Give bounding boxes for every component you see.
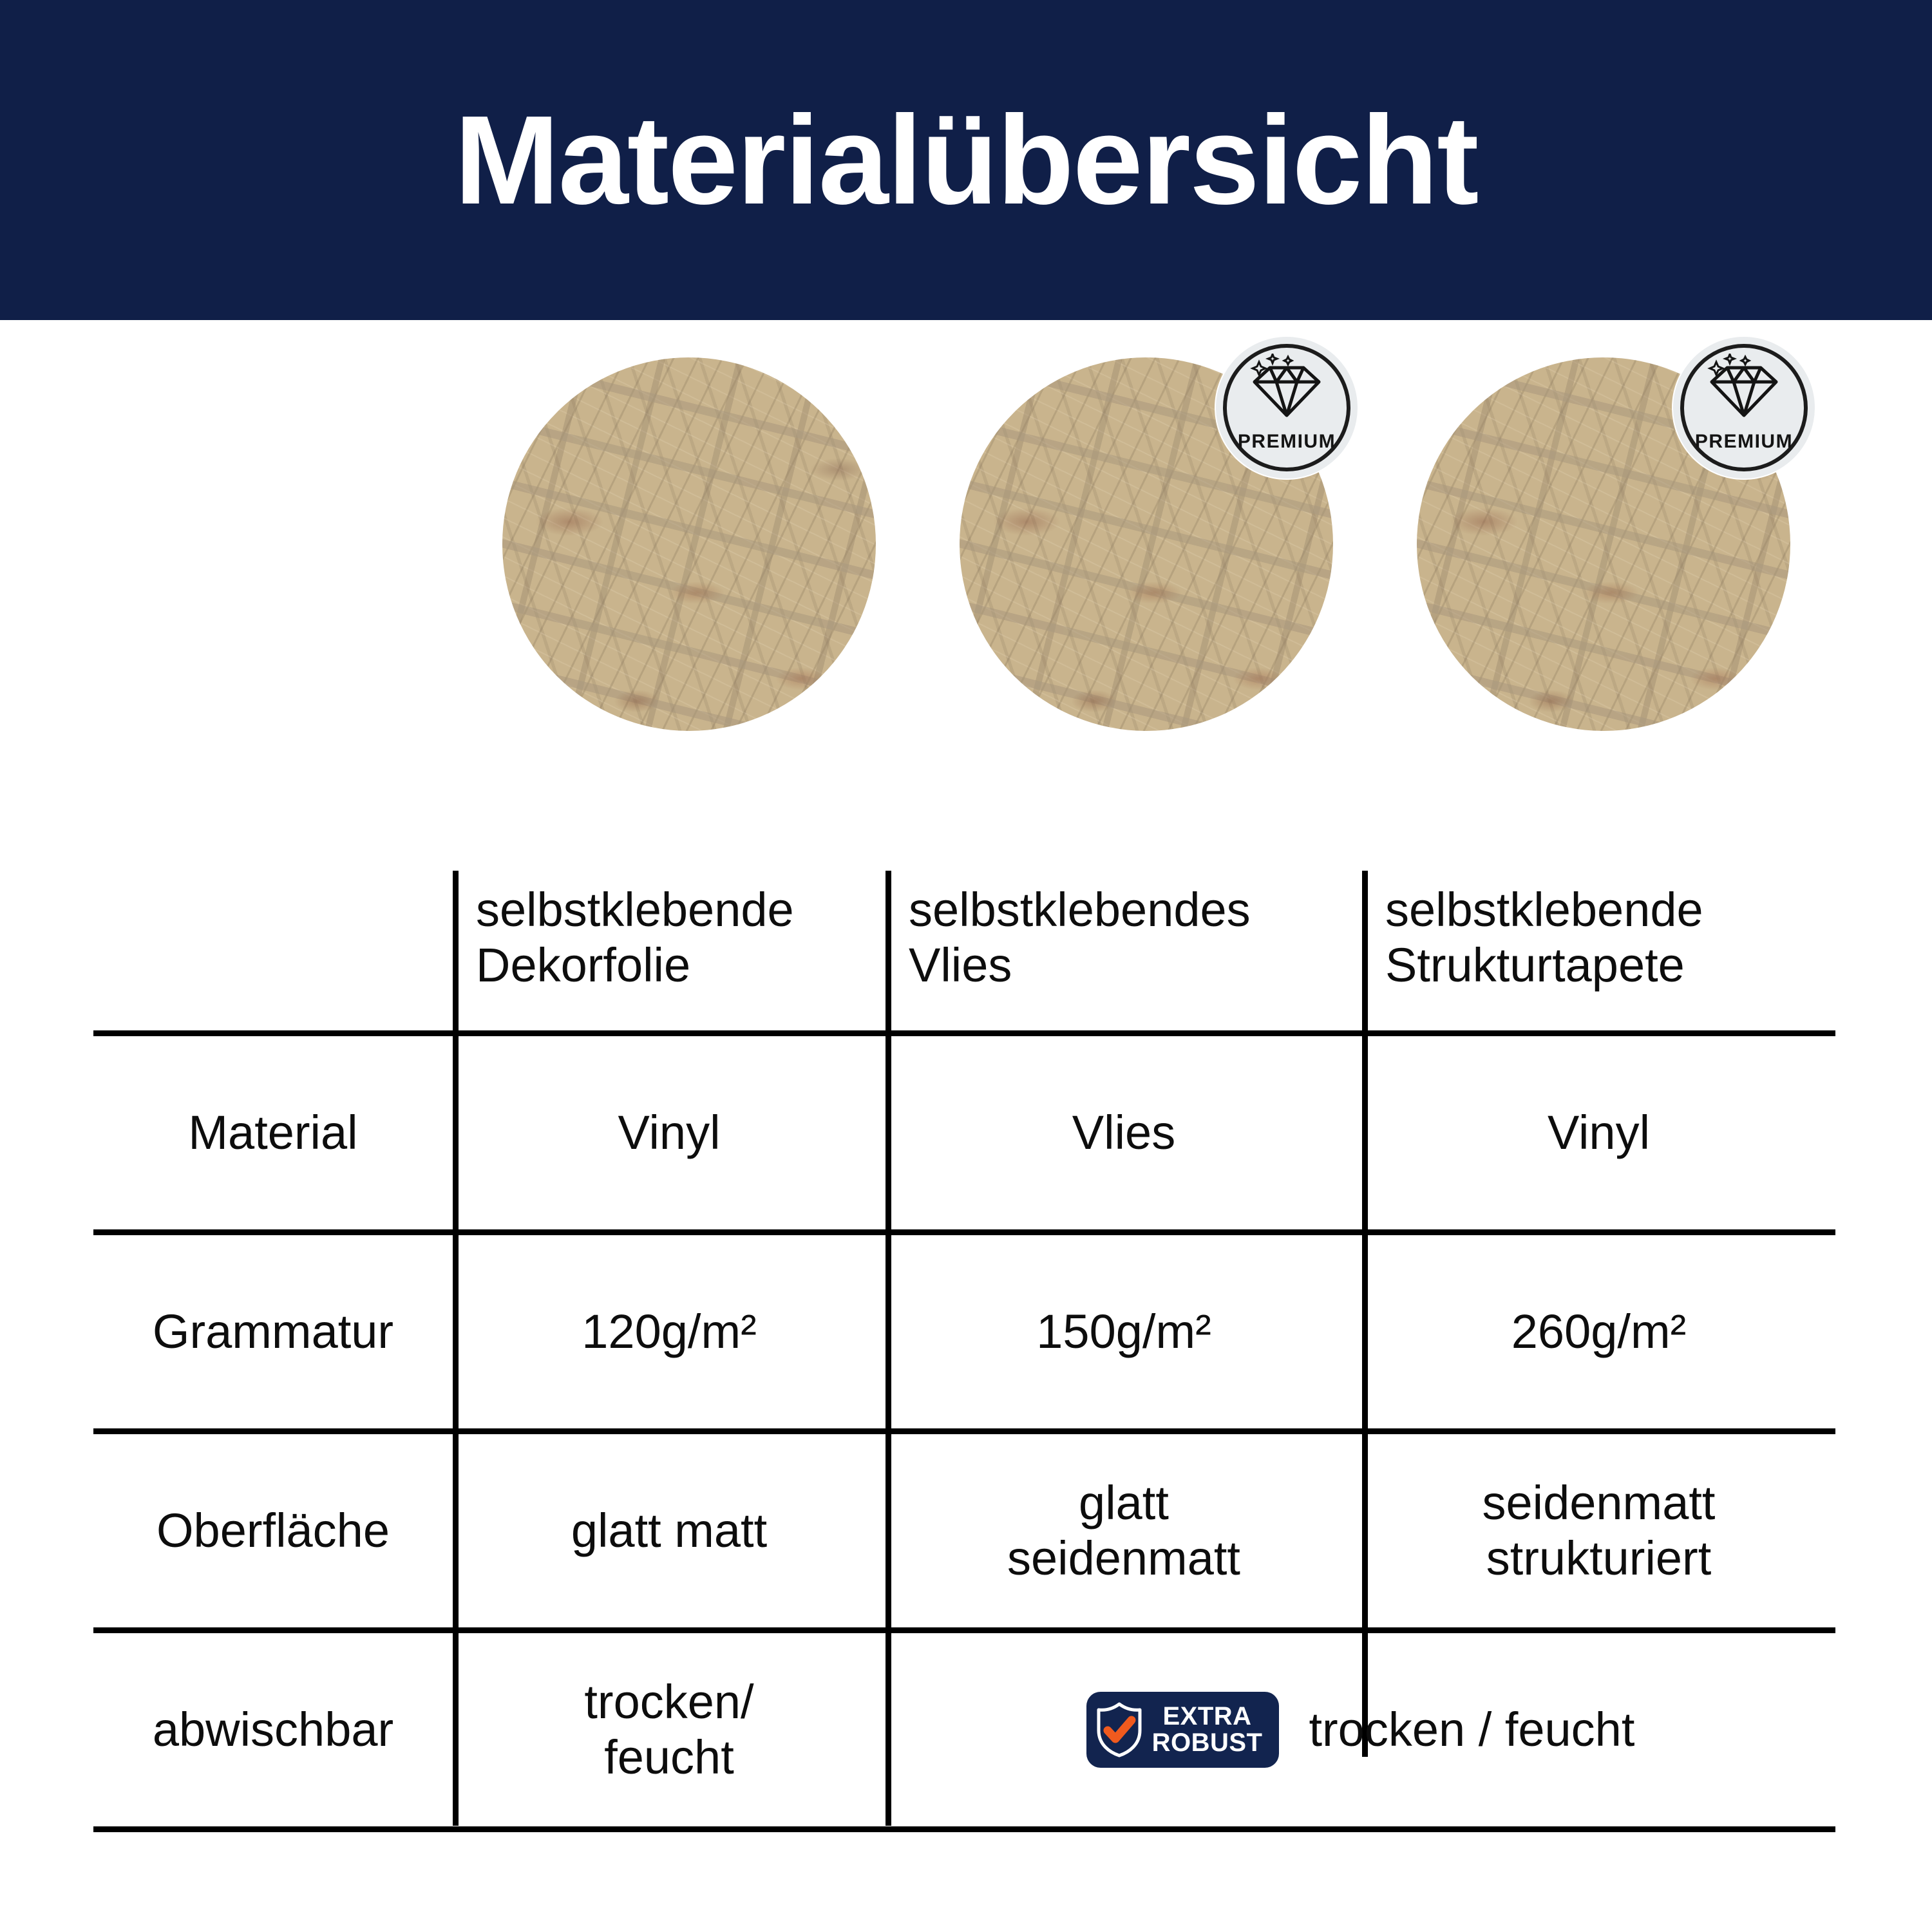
row-divider — [93, 1229, 1835, 1235]
stone-texture-circle — [502, 357, 876, 731]
premium-badge-label: PREMIUM — [1673, 431, 1815, 453]
cell-abwischbar-merged: EXTRA ROBUST trocken / feucht — [885, 1633, 1835, 1826]
row-label-material: Material — [93, 1036, 453, 1229]
robust-line-1: EXTRA — [1152, 1703, 1263, 1730]
table-bottom-border — [93, 1826, 1835, 1832]
premium-badge: PREMIUM — [1216, 337, 1358, 478]
premium-badge-label: PREMIUM — [1216, 431, 1358, 453]
swatch-vlies[interactable]: PREMIUM — [960, 357, 1333, 731]
cell-grammatur-vlies: 150g/m² — [885, 1235, 1362, 1428]
swatch-dekorfolie[interactable] — [502, 357, 876, 731]
cell-abwischbar-dekorfolie: trocken/ feucht — [453, 1633, 885, 1826]
swatch-strukturtapete[interactable]: PREMIUM — [1417, 357, 1790, 731]
cell-oberflaeche-vlies: glatt seidenmatt — [885, 1434, 1362, 1627]
material-overview-page: Materialübersicht — [0, 0, 1932, 1932]
swatch-row: PREMIUM — [0, 320, 1932, 771]
diamond-icon — [1705, 354, 1783, 419]
extra-robust-text: EXTRA ROBUST — [1152, 1703, 1263, 1756]
table-header-row: selbstklebende Dekorfolie selbstklebende… — [93, 871, 1835, 1030]
shield-check-icon — [1095, 1702, 1143, 1757]
cell-grammatur-dekorfolie: 120g/m² — [453, 1235, 885, 1428]
table-row: Material Vinyl Vlies Vinyl — [93, 1036, 1835, 1229]
header-banner: Materialübersicht — [0, 0, 1932, 320]
table-row: Grammatur 120g/m² 150g/m² 260g/m² — [93, 1235, 1835, 1428]
row-divider — [93, 1428, 1835, 1434]
row-label-grammatur: Grammatur — [93, 1235, 453, 1428]
column-header-vlies: selbstklebendes Vlies — [885, 871, 1362, 1030]
robust-line-2: ROBUST — [1152, 1730, 1263, 1756]
cell-oberflaeche-dekorfolie: glatt matt — [453, 1434, 885, 1627]
row-label-oberflaeche: Oberfläche — [93, 1434, 453, 1627]
row-divider — [93, 1030, 1835, 1036]
cell-material-vlies: Vlies — [885, 1036, 1362, 1229]
diamond-icon — [1248, 354, 1325, 419]
header-cell-empty — [93, 871, 453, 1030]
row-label-abwischbar: abwischbar — [93, 1633, 453, 1826]
table-row: abwischbar trocken/ feucht EXTRA ROBUST — [93, 1633, 1835, 1826]
premium-badge: PREMIUM — [1673, 337, 1815, 478]
row-divider — [93, 1627, 1835, 1633]
column-header-dekorfolie: selbstklebende Dekorfolie — [453, 871, 885, 1030]
column-header-strukturtapete: selbstklebende Strukturtapete — [1362, 871, 1835, 1030]
table-row: Oberfläche glatt matt glatt seidenmatt s… — [93, 1434, 1835, 1627]
material-comparison-table: selbstklebende Dekorfolie selbstklebende… — [93, 871, 1835, 1826]
cell-material-strukturtapete: Vinyl — [1362, 1036, 1835, 1229]
cell-material-dekorfolie: Vinyl — [453, 1036, 885, 1229]
cell-abwischbar-value: trocken / feucht — [1309, 1702, 1634, 1757]
cell-oberflaeche-strukturtapete: seidenmatt strukturiert — [1362, 1434, 1835, 1627]
extra-robust-badge: EXTRA ROBUST — [1086, 1692, 1280, 1768]
cell-grammatur-strukturtapete: 260g/m² — [1362, 1235, 1835, 1428]
page-title: Materialübersicht — [455, 97, 1478, 223]
